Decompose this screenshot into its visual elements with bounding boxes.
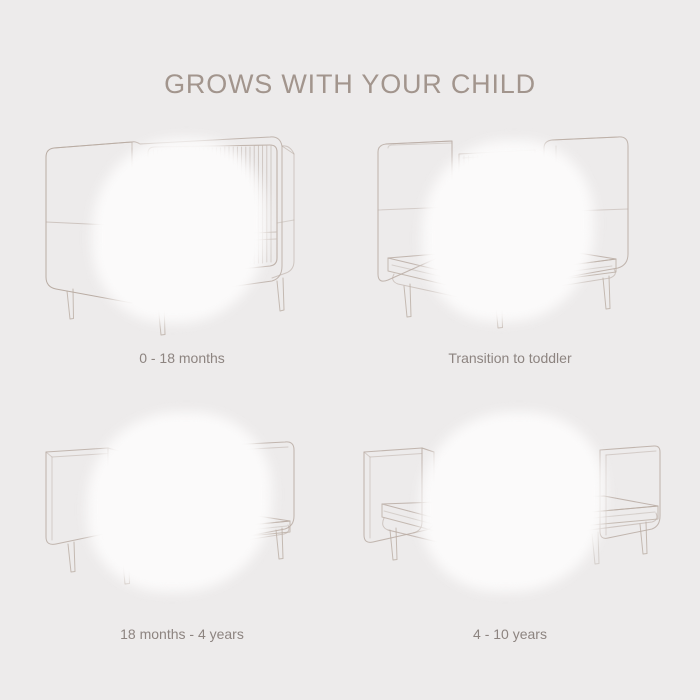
- daybed-illustration: [360, 404, 660, 619]
- toddler-bed-illustration: [32, 404, 332, 619]
- page-title: GROWS WITH YOUR CHILD: [0, 69, 700, 100]
- stage-caption-crib: 0 - 18 months: [32, 350, 332, 366]
- stage-card-daybed: 4 - 10 years: [360, 404, 660, 664]
- stage-card-toddler-bed: 18 months - 4 years: [32, 404, 332, 664]
- infographic-page: GROWS WITH YOUR CHILD: [0, 0, 700, 700]
- crib-illustration-transition: [360, 128, 660, 343]
- stage-card-transition: Transition to toddler: [360, 128, 660, 388]
- stage-card-crib: 0 - 18 months: [32, 128, 332, 388]
- crib-illustration-full: [32, 128, 332, 343]
- stage-caption-toddler-bed: 18 months - 4 years: [32, 626, 332, 642]
- stage-caption-transition: Transition to toddler: [360, 350, 660, 366]
- stage-caption-daybed: 4 - 10 years: [360, 626, 660, 642]
